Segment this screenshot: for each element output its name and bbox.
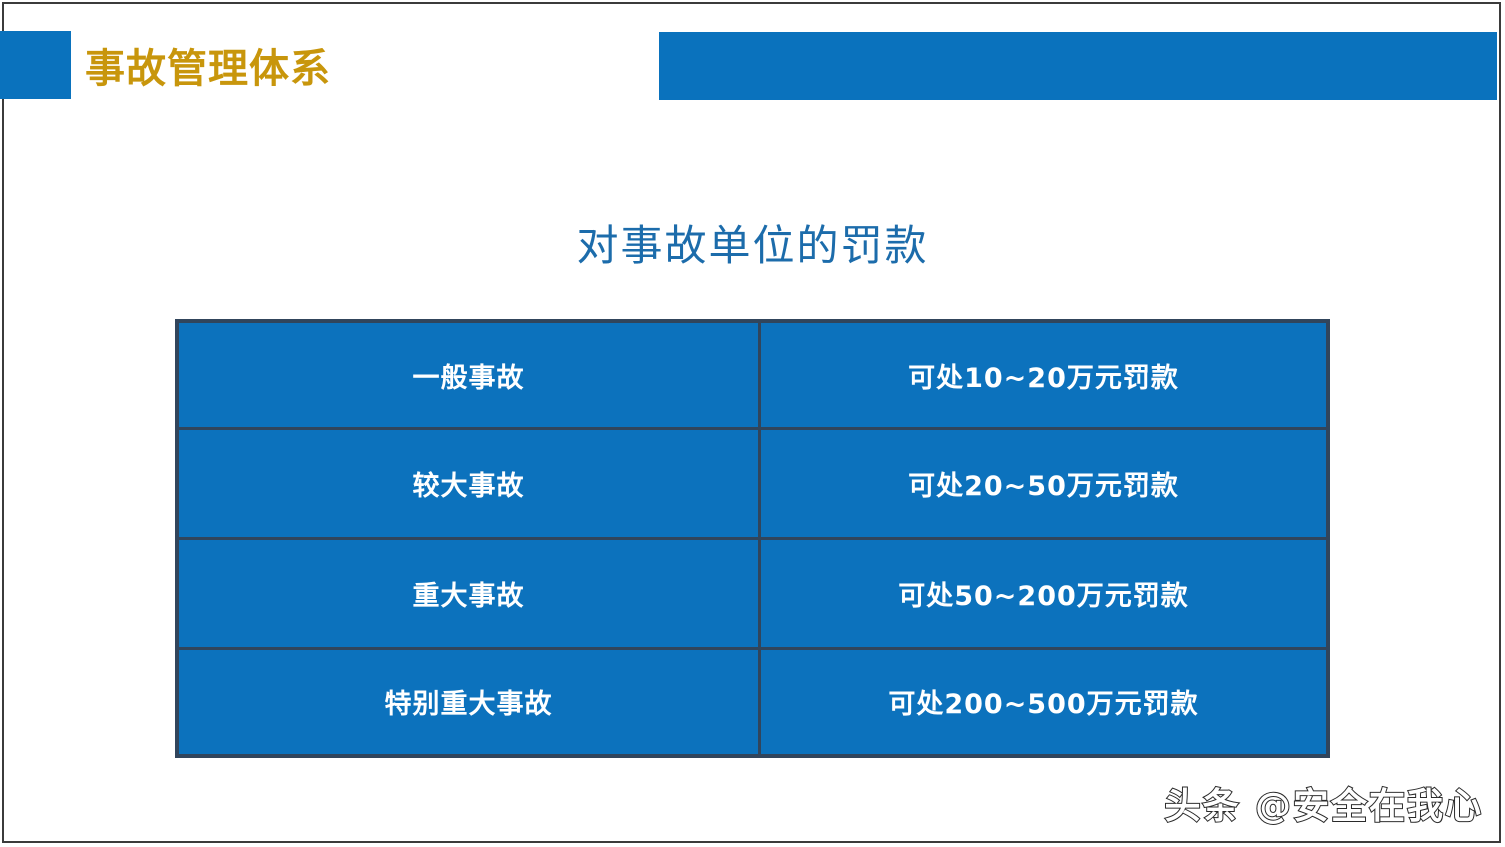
header-accent-bar-right	[659, 32, 1497, 100]
table-row: 较大事故 可处20~50万元罚款	[179, 429, 1326, 539]
table-row: 重大事故 可处50~200万元罚款	[179, 538, 1326, 648]
page-title: 事故管理体系	[85, 34, 645, 96]
accident-category-cell: 一般事故	[179, 323, 760, 429]
penalty-amount-cell: 可处50~200万元罚款	[760, 538, 1327, 648]
header-accent-block-left	[0, 31, 71, 99]
penalty-amount-cell: 可处10~20万元罚款	[760, 323, 1327, 429]
penalty-amount-cell: 可处200~500万元罚款	[760, 648, 1327, 754]
accident-category-cell: 重大事故	[179, 538, 760, 648]
accident-category-cell: 较大事故	[179, 429, 760, 539]
watermark: 头条 @安全在我心	[1164, 777, 1483, 829]
slide: 事故管理体系 对事故单位的罚款 一般事故 可处10~20万元罚款 较大事故 可处…	[0, 0, 1505, 847]
table-row: 一般事故 可处10~20万元罚款	[179, 323, 1326, 429]
penalty-table: 一般事故 可处10~20万元罚款 较大事故 可处20~50万元罚款 重大事故 可…	[175, 319, 1330, 758]
accident-category-cell: 特别重大事故	[179, 648, 760, 754]
table-row: 特别重大事故 可处200~500万元罚款	[179, 648, 1326, 754]
penalty-amount-cell: 可处20~50万元罚款	[760, 429, 1327, 539]
section-heading: 对事故单位的罚款	[0, 212, 1505, 273]
